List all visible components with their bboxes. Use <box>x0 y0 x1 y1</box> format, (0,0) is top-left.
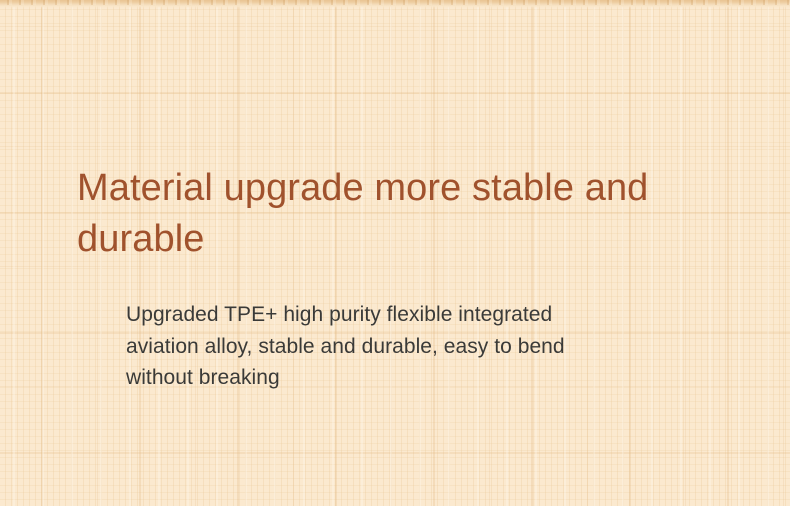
slide-content-block: Material upgrade more stable and durable… <box>77 163 717 394</box>
product-feature-slide: Material upgrade more stable and durable… <box>0 0 790 506</box>
slide-description: Upgraded TPE+ high purity flexible integ… <box>77 265 626 394</box>
top-edge-band <box>0 0 790 8</box>
slide-headline: Material upgrade more stable and durable <box>77 163 717 265</box>
top-edge-band-grain <box>0 0 790 5</box>
